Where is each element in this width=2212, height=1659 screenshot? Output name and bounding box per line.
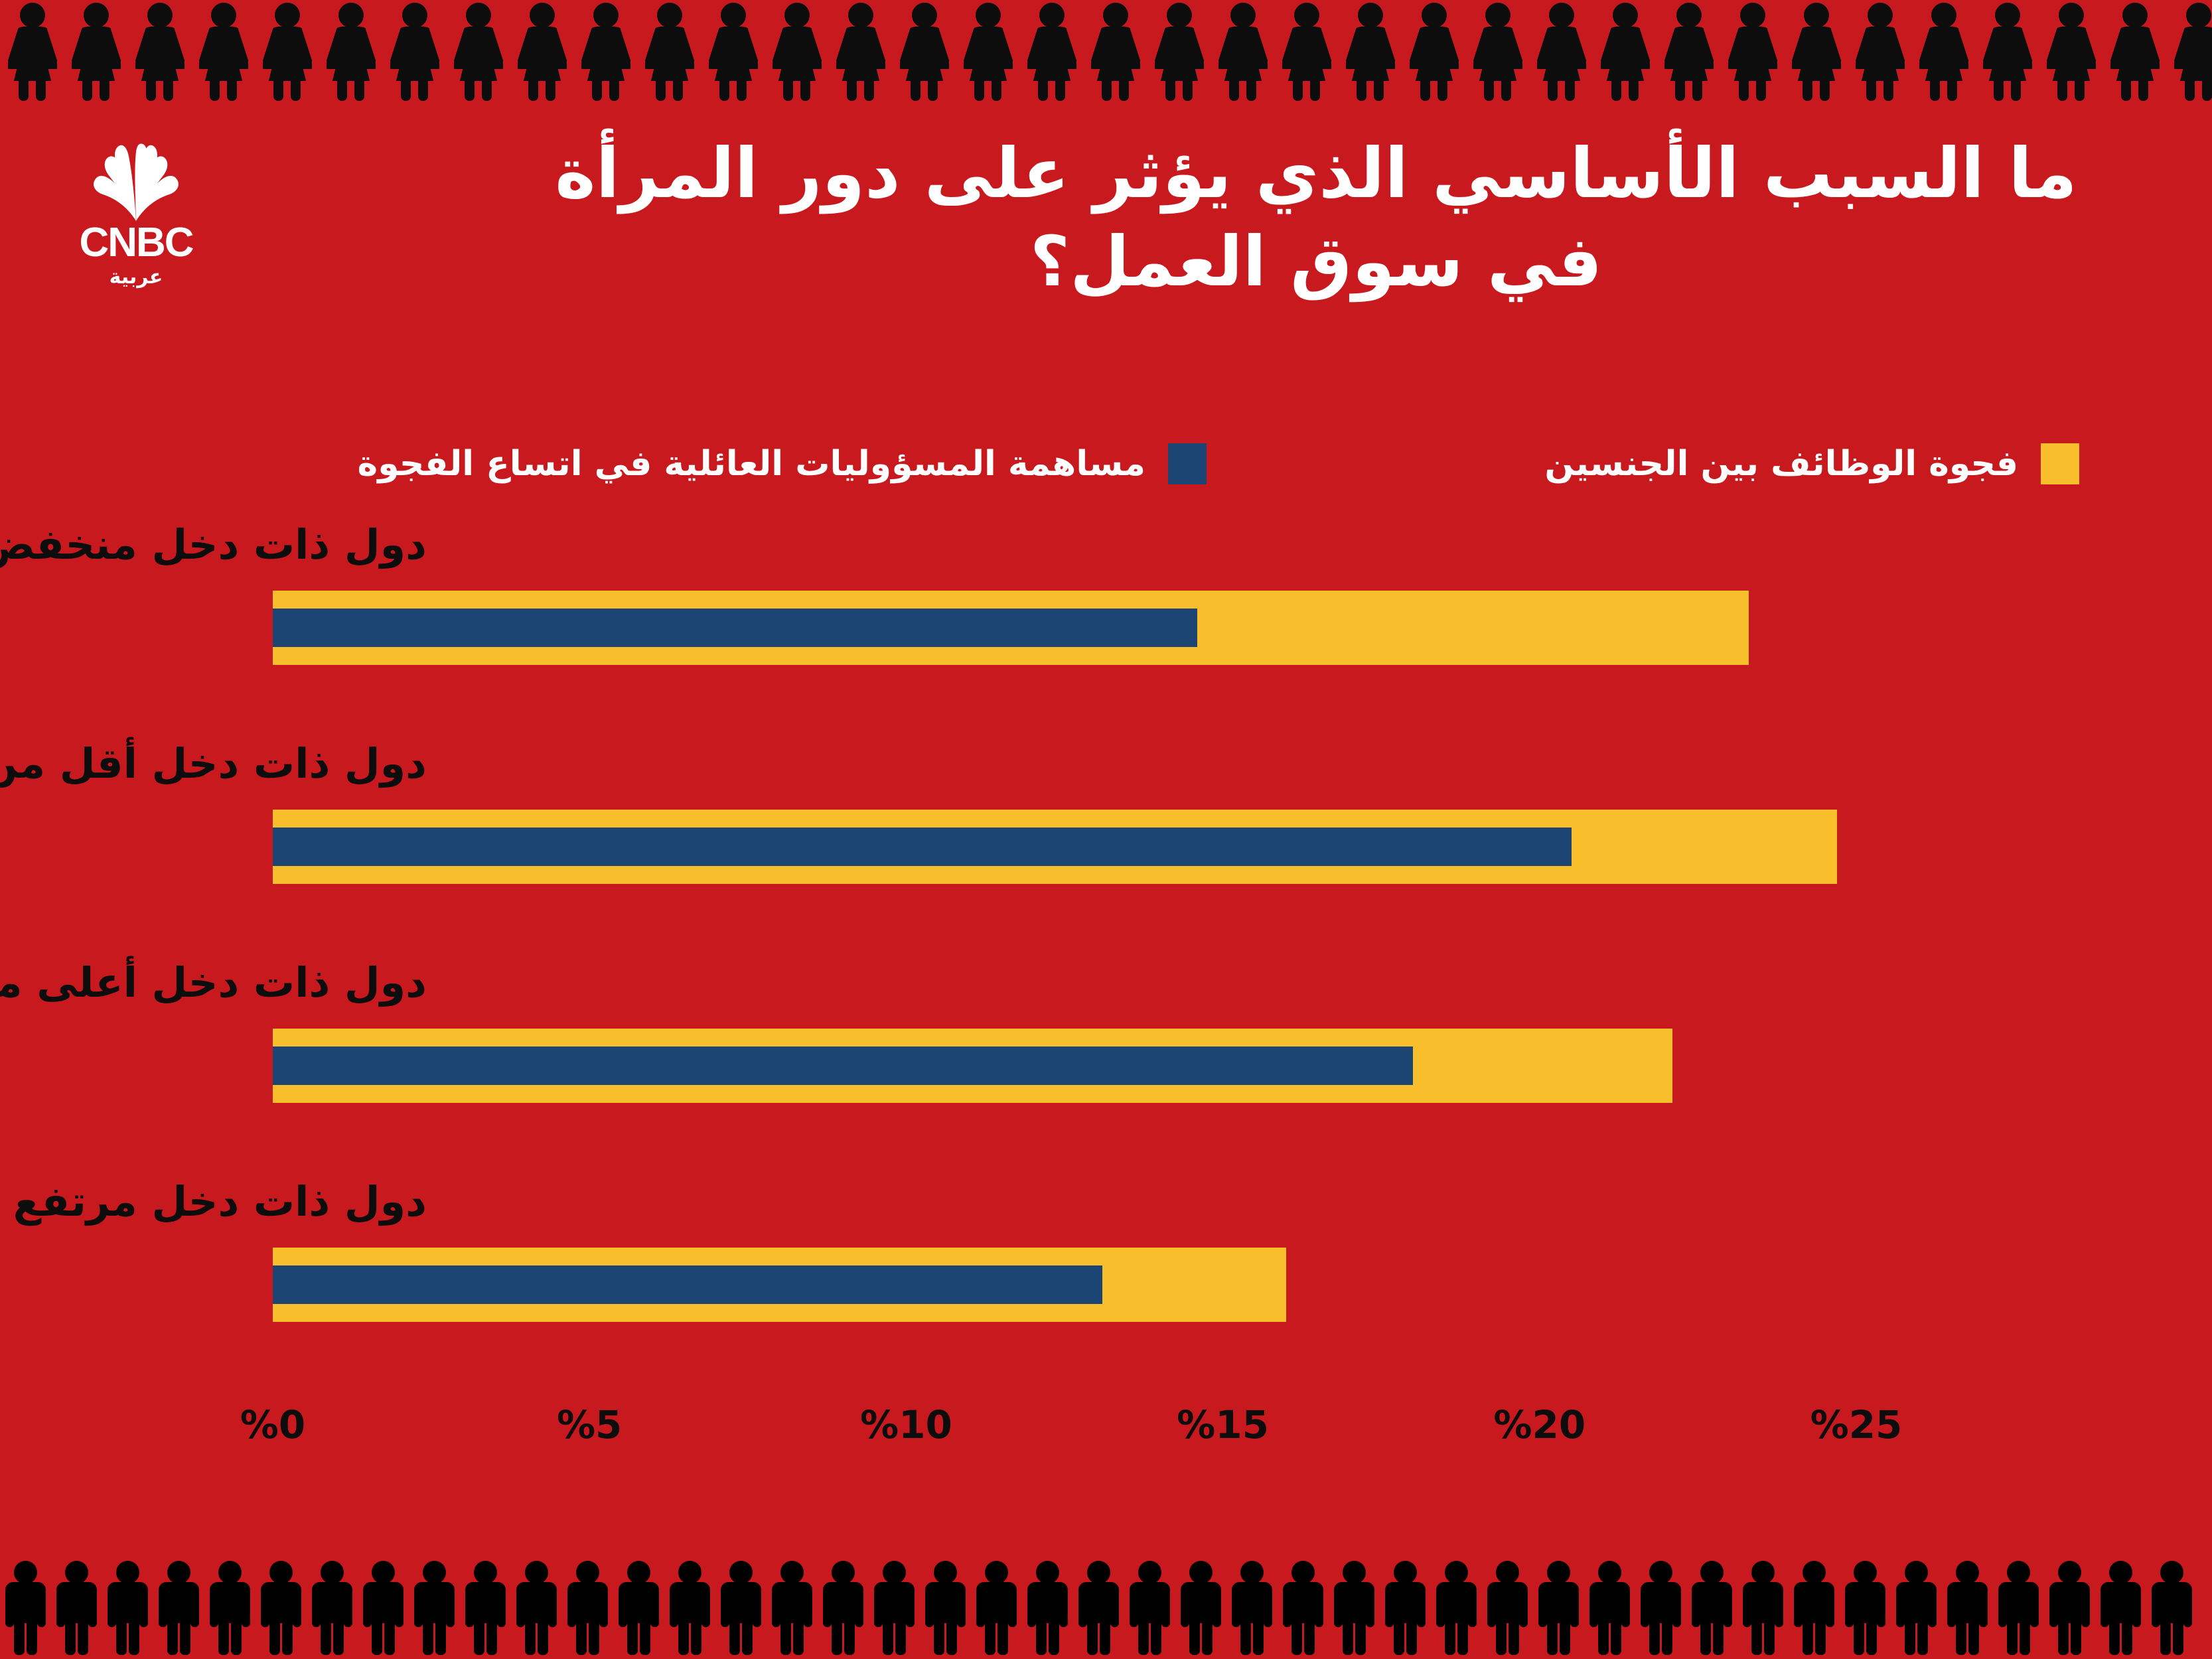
category-label: دول ذات دخل أقل من المتوسط (0, 743, 427, 784)
male-figure-icon (920, 1558, 971, 1655)
male-figure-icon (1840, 1558, 1891, 1655)
female-figure-icon (64, 3, 127, 101)
top-pictogram-border (0, 0, 2212, 101)
female-figure-icon (1147, 3, 1211, 101)
male-figure-icon (51, 1558, 102, 1655)
female-figure-icon (255, 3, 319, 101)
female-figure-icon (510, 3, 573, 101)
x-tick-label: %15 (1177, 1406, 1269, 1444)
female-figure-icon (1975, 3, 2039, 101)
female-figure-icon (1019, 3, 1083, 101)
female-figure-icon (1338, 3, 1402, 101)
male-figure-icon (153, 1558, 204, 1655)
page-title: ما السبب الأساسي الذي يؤثر على دور المرأ… (520, 129, 2112, 306)
female-figure-icon (382, 3, 446, 101)
male-figure-icon (715, 1558, 767, 1655)
bar-gender-job-gap (273, 1029, 1672, 1103)
male-figure-icon (1533, 1558, 1584, 1655)
legend-label-gap: فجوة الوظائف بين الجنسين (1544, 447, 2018, 481)
male-figure-icon (1380, 1558, 1431, 1655)
female-figure-icon (2039, 3, 2102, 101)
male-figure-icon (2146, 1558, 2197, 1655)
legend-swatch-family (1168, 443, 1207, 484)
male-figure-icon (1073, 1558, 1124, 1655)
bar-pair (273, 591, 1749, 665)
male-figure-icon (1737, 1558, 1789, 1655)
male-figure-icon (613, 1558, 664, 1655)
category-label: دول ذات دخل أعلى من المتوسط (0, 962, 427, 1003)
female-figure-icon (1720, 3, 1784, 101)
female-figure-icon (765, 3, 828, 101)
male-figure-icon (1584, 1558, 1635, 1655)
female-figure-icon (1593, 3, 1657, 101)
male-figure-icon (1175, 1558, 1226, 1655)
male-figure-icon (204, 1558, 256, 1655)
male-figure-icon (1431, 1558, 1482, 1655)
male-figure-icon (767, 1558, 818, 1655)
male-figure-icon (971, 1558, 1022, 1655)
female-figure-icon (191, 3, 255, 101)
male-figure-icon (818, 1558, 869, 1655)
female-figure-icon (319, 3, 382, 101)
female-figure-icon (1083, 3, 1147, 101)
male-figure-icon (358, 1558, 409, 1655)
female-figure-icon (892, 3, 956, 101)
bar-gender-job-gap (273, 1248, 1286, 1322)
male-figure-icon (869, 1558, 920, 1655)
male-figure-icon (460, 1558, 511, 1655)
bar-pair (273, 810, 1837, 884)
female-figure-icon (956, 3, 1019, 101)
male-figure-icon (2095, 1558, 2146, 1655)
category-label: دول ذات دخل منخفض (0, 524, 427, 565)
male-figure-icon (1789, 1558, 1840, 1655)
x-tick-label: %0 (240, 1406, 305, 1444)
female-figure-icon (1211, 3, 1274, 101)
male-figure-icon (1482, 1558, 1533, 1655)
female-figure-icon (1465, 3, 1529, 101)
male-figure-icon (307, 1558, 358, 1655)
male-figure-icon (0, 1558, 51, 1655)
bar-chart: دول ذات دخل منخفض دول ذات دخل أقل من الم… (0, 524, 2212, 1400)
female-figure-icon (1657, 3, 1720, 101)
female-figure-icon (1911, 3, 1975, 101)
category-label: دول ذات دخل مرتفع (13, 1181, 427, 1222)
female-figure-icon (1529, 3, 1593, 101)
nbc-peacock-icon (83, 143, 189, 221)
cnbc-wordmark: CNBC (66, 222, 206, 263)
female-figure-icon (828, 3, 892, 101)
chart-legend: فجوة الوظائف بين الجنسين مساهمة المسؤولي… (0, 425, 2212, 511)
cnbc-logo: CNBC عربية (66, 143, 206, 295)
legend-item-family-responsibilities: مساهمة المسؤوليات العائلية في اتساع الفج… (358, 443, 1207, 484)
male-figure-icon (1278, 1558, 1329, 1655)
male-figure-icon (256, 1558, 307, 1655)
legend-item-gender-job-gap: فجوة الوظائف بين الجنسين (1544, 443, 2079, 484)
x-tick-label: %10 (860, 1406, 952, 1444)
female-figure-icon (2102, 3, 2166, 101)
female-figure-icon (0, 3, 64, 101)
female-figure-icon (637, 3, 701, 101)
female-figure-icon (446, 3, 510, 101)
male-figure-icon (1022, 1558, 1073, 1655)
male-figure-icon (1891, 1558, 1942, 1655)
female-figure-icon (1784, 3, 1848, 101)
bar-family-responsibilities (273, 1046, 1413, 1085)
bottom-pictogram-border (0, 1558, 2212, 1659)
bar-family-responsibilities (273, 609, 1197, 647)
female-figure-icon (127, 3, 191, 101)
legend-swatch-gap (2041, 443, 2079, 484)
cnbc-arabic-name: عربية (66, 266, 206, 288)
bar-pair (273, 1029, 1672, 1103)
female-figure-icon (701, 3, 765, 101)
male-figure-icon (664, 1558, 715, 1655)
female-figure-icon (573, 3, 637, 101)
x-tick-label: %25 (1810, 1406, 1903, 1444)
bar-family-responsibilities (273, 1265, 1102, 1304)
female-figure-icon (1402, 3, 1465, 101)
x-tick-label: %20 (1493, 1406, 1585, 1444)
female-figure-icon (1848, 3, 1911, 101)
female-figure-icon (1274, 3, 1338, 101)
male-figure-icon (511, 1558, 562, 1655)
bar-gender-job-gap (273, 810, 1837, 884)
male-figure-icon (562, 1558, 613, 1655)
legend-label-family: مساهمة المسؤوليات العائلية في اتساع الفج… (358, 447, 1145, 481)
male-figure-icon (1226, 1558, 1278, 1655)
male-figure-icon (2044, 1558, 2095, 1655)
bar-family-responsibilities (273, 828, 1572, 866)
male-figure-icon (409, 1558, 460, 1655)
x-tick-label: %5 (557, 1406, 622, 1444)
female-figure-icon (2166, 3, 2212, 101)
male-figure-icon (1993, 1558, 2044, 1655)
bar-pair (273, 1248, 1286, 1322)
male-figure-icon (1635, 1558, 1686, 1655)
male-figure-icon (1942, 1558, 1993, 1655)
male-figure-icon (1329, 1558, 1380, 1655)
male-figure-icon (102, 1558, 153, 1655)
bar-gender-job-gap (273, 591, 1749, 665)
male-figure-icon (1124, 1558, 1175, 1655)
x-axis-tick-labels: %0%5%10%15%20%25 (0, 1406, 2212, 1465)
male-figure-icon (1686, 1558, 1737, 1655)
